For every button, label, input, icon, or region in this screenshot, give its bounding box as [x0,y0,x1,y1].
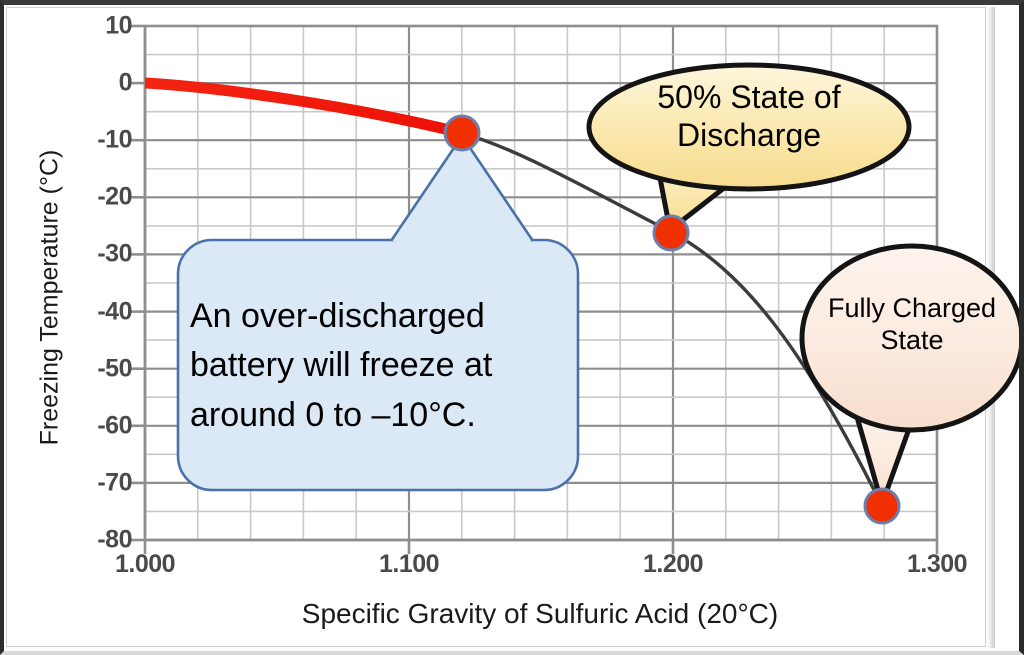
data-point-fully-charged[interactable] [865,489,899,523]
callout-peach-body [802,246,1022,430]
callout-blue-body [178,240,578,490]
x-axis [145,540,937,554]
x-axis-title: Specific Gravity of Sulfuric Acid (20°C) [100,598,980,630]
y-axis-title: Freezing Temperature (°C) [36,88,65,508]
chart-screenshot: 10 0 -10 -20 -30 -40 -50 -60 -70 -80 1.0… [0,0,1024,655]
data-point-half-discharge[interactable] [654,216,688,250]
callout-yellow-body [589,65,909,189]
y-axis [131,26,145,540]
data-point-over-discharged[interactable] [445,116,479,150]
